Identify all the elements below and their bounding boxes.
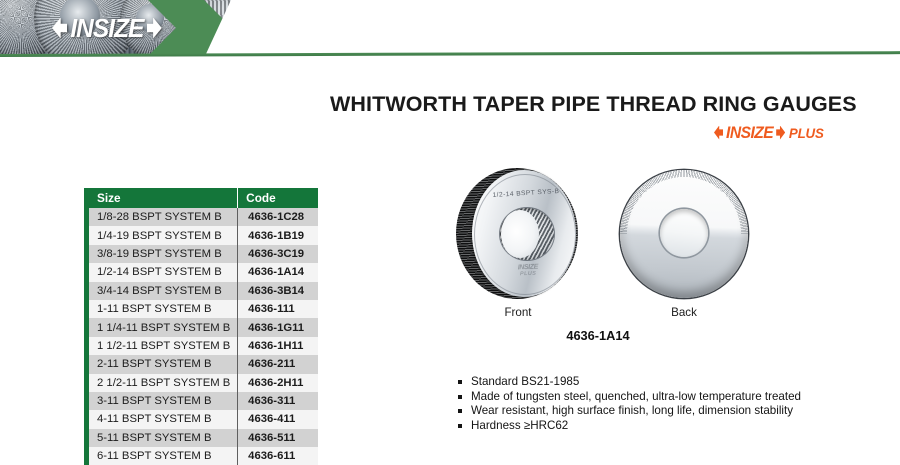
cell-size: 5-11 BSPT SYSTEM B <box>87 429 238 447</box>
table-row[interactable]: 1/4-19 BSPT SYSTEM B4636-1B19 <box>87 226 319 244</box>
header-banner: INSIZE <box>0 0 900 58</box>
table-row[interactable]: 1/8-28 BSPT SYSTEM B4636-1C28 <box>87 208 319 226</box>
cell-size: 6-11 BSPT SYSTEM B <box>87 447 238 465</box>
cell-code: 4636-411 <box>238 410 318 428</box>
table-body: 1/8-28 BSPT SYSTEM B4636-1C28 1/4-19 BSP… <box>87 208 319 465</box>
insize-logo[interactable]: INSIZE <box>52 14 162 42</box>
product-illustration: 1/2-14 BSPT SYS-B INSIZE PLUS Front Back <box>448 168 748 303</box>
cell-size: 1/8-28 BSPT SYSTEM B <box>87 208 238 226</box>
cell-code: 4636-611 <box>238 447 318 465</box>
cell-code: 4636-1G11 <box>238 318 318 336</box>
ring-gauge-front-view: 1/2-14 BSPT SYS-B INSIZE PLUS <box>456 168 578 299</box>
list-item: Hardness ≥HRC62 <box>458 419 878 434</box>
cell-size: 3-11 BSPT SYSTEM B <box>87 392 238 410</box>
cell-code: 4636-311 <box>238 392 318 410</box>
bore-inner-highlight <box>501 210 539 258</box>
back-bore <box>660 209 708 257</box>
table-row[interactable]: 6-11 BSPT SYSTEM B4636-611 <box>87 447 319 465</box>
ring-gauge-back-view <box>620 170 748 298</box>
cell-size: 3/8-19 BSPT SYSTEM B <box>87 245 238 263</box>
column-header-code: Code <box>238 188 318 208</box>
cell-code: 4636-3C19 <box>238 245 318 263</box>
table-row[interactable]: 2 1/2-11 BSPT SYSTEM B4636-2H11 <box>87 374 319 392</box>
table-row[interactable]: 1 1/2-11 BSPT SYSTEM B4636-1H11 <box>87 337 319 355</box>
cell-size: 2-11 BSPT SYSTEM B <box>87 355 238 373</box>
table-row[interactable]: 3-11 BSPT SYSTEM B4636-311 <box>87 392 319 410</box>
banner-white-area <box>205 0 900 56</box>
cell-code: 4636-2H11 <box>238 374 318 392</box>
cell-code: 4636-111 <box>238 300 318 318</box>
arrow-left-icon <box>714 126 723 140</box>
table-row[interactable]: 3/8-19 BSPT SYSTEM B4636-3C19 <box>87 245 319 263</box>
threaded-bore <box>500 208 554 260</box>
insize-plus-logo: INSIZE PLUS <box>714 124 825 141</box>
arrow-right-icon <box>147 18 162 39</box>
table-row[interactable]: 5-11 BSPT SYSTEM B4636-511 <box>87 429 319 447</box>
table-row[interactable]: 4-11 BSPT SYSTEM B4636-411 <box>87 410 319 428</box>
table-row[interactable]: 1/2-14 BSPT SYSTEM B4636-1A14 <box>87 263 319 281</box>
table-row[interactable]: 1-11 BSPT SYSTEM B4636-111 <box>87 300 319 318</box>
cell-code: 4636-511 <box>238 429 318 447</box>
cell-code: 4636-3B14 <box>238 282 318 300</box>
insize-plus-logo-text: INSIZE <box>726 124 773 141</box>
table-header-row: Size Code <box>87 188 319 208</box>
cell-code: 4636-1C28 <box>238 208 318 226</box>
table-row[interactable]: 1 1/4-11 BSPT SYSTEM B4636-1G11 <box>87 318 319 336</box>
cell-code: 4636-1B19 <box>238 226 318 244</box>
insize-logo-text: INSIZE <box>70 15 143 41</box>
specification-table: Size Code 1/8-28 BSPT SYSTEM B4636-1C28 … <box>84 188 318 465</box>
cell-size: 1 1/2-11 BSPT SYSTEM B <box>87 337 238 355</box>
caption-front: Front <box>468 306 568 319</box>
feature-list: Standard BS21-1985 Made of tungsten stee… <box>458 375 878 433</box>
arrow-left-icon <box>52 18 67 39</box>
list-item: Standard BS21-1985 <box>458 375 878 390</box>
cell-size: 1/2-14 BSPT SYSTEM B <box>87 263 238 281</box>
insize-plus-suffix: PLUS <box>789 126 824 140</box>
cell-size: 4-11 BSPT SYSTEM B <box>87 410 238 428</box>
table-row[interactable]: 3/4-14 BSPT SYSTEM B4636-3B14 <box>87 282 319 300</box>
list-item: Made of tungsten steel, quenched, ultra-… <box>458 390 878 405</box>
product-code-label: 4636-1A14 <box>448 328 748 343</box>
cell-code: 4636-1A14 <box>238 263 318 281</box>
cell-size: 1 1/4-11 BSPT SYSTEM B <box>87 318 238 336</box>
column-header-size: Size <box>87 188 238 208</box>
cell-code: 4636-211 <box>238 355 318 373</box>
page-title: WHITWORTH TAPER PIPE THREAD RING GAUGES <box>330 92 860 117</box>
arrow-right-icon <box>776 126 785 140</box>
list-item: Wear resistant, high surface finish, lon… <box>458 404 878 419</box>
cell-size: 3/4-14 BSPT SYSTEM B <box>87 282 238 300</box>
cell-size: 1-11 BSPT SYSTEM B <box>87 300 238 318</box>
cell-code: 4636-1H11 <box>238 337 318 355</box>
engraving-insize-plus-logo: INSIZE PLUS <box>500 263 556 279</box>
caption-back: Back <box>634 306 734 319</box>
table-row[interactable]: 2-11 BSPT SYSTEM B4636-211 <box>87 355 319 373</box>
cell-size: 2 1/2-11 BSPT SYSTEM B <box>87 374 238 392</box>
cell-size: 1/4-19 BSPT SYSTEM B <box>87 226 238 244</box>
